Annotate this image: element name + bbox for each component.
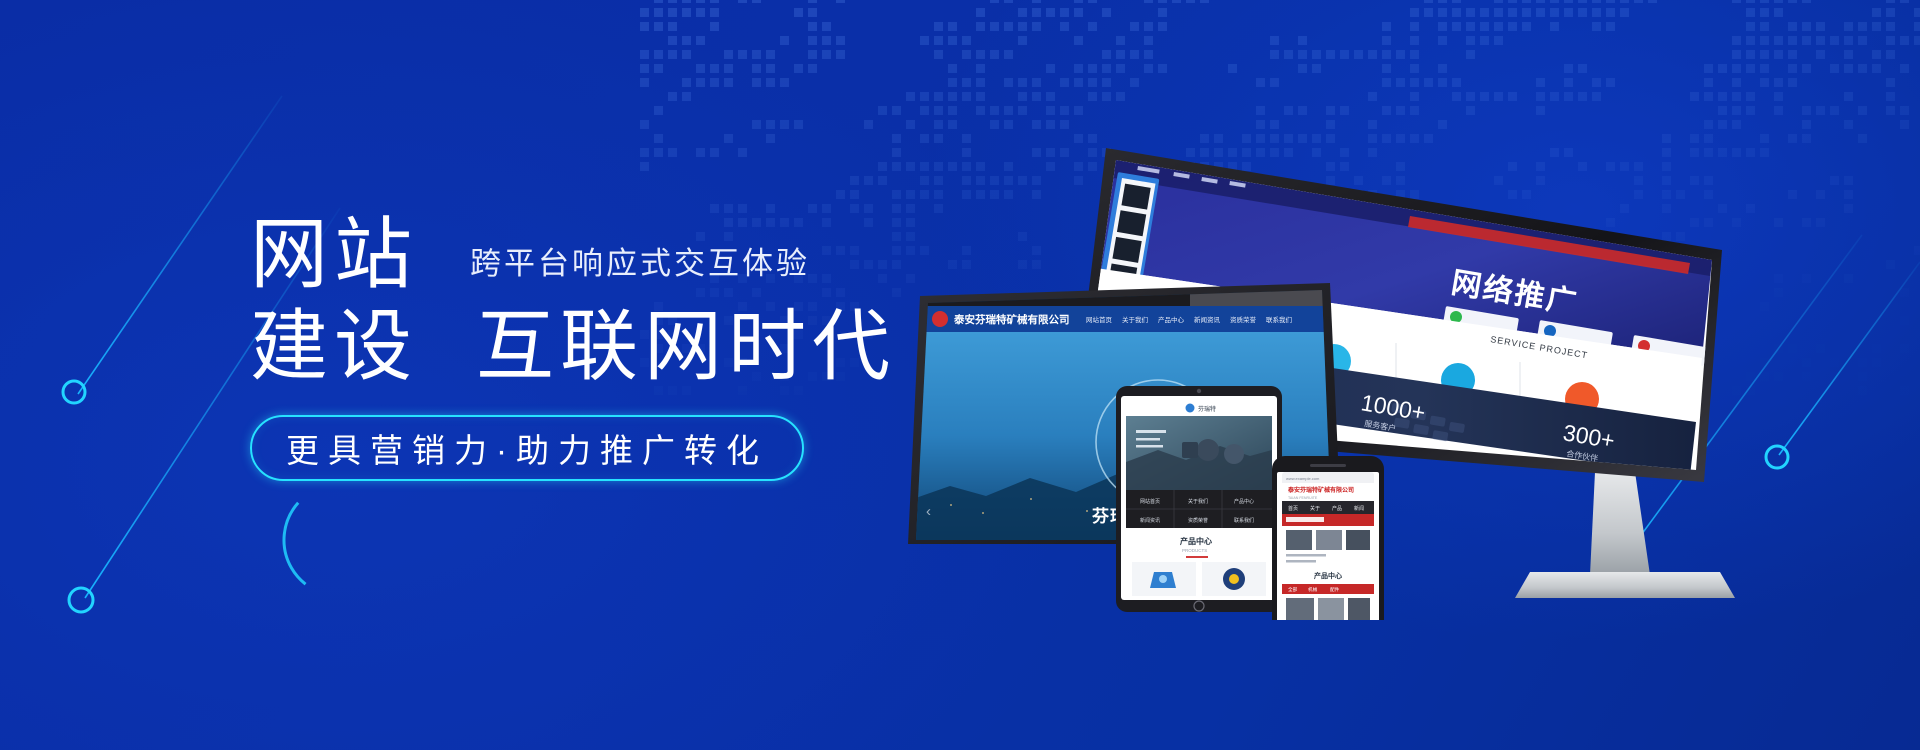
- tagline-wrapper: 更具营销力·助力推广转化: [250, 415, 804, 481]
- svg-text:产品中心: 产品中心: [1234, 498, 1254, 505]
- laptop-prev-arrow: ‹: [926, 503, 931, 520]
- phone-header: 泰安芬瑞特矿械有限公司: [1287, 486, 1354, 494]
- svg-text:TAIAN FENRUITE: TAIAN FENRUITE: [1288, 496, 1318, 500]
- svg-text:机械: 机械: [1308, 586, 1318, 593]
- headline-row-2: 建设 互联网时代: [250, 307, 890, 385]
- phone-section: 产品中心: [1314, 571, 1342, 580]
- hero-banner: 网站 跨平台响应式交互体验 建设 互联网时代 更具营销力·助力推广转化: [0, 0, 1920, 750]
- svg-text:配件: 配件: [1330, 586, 1340, 593]
- svg-text:全部: 全部: [1288, 586, 1298, 593]
- svg-text:新闻资讯: 新闻资讯: [1140, 517, 1160, 524]
- device-phone: www.example.com 泰安芬瑞特矿械有限公司 TAIAN FENRUI…: [1272, 456, 1384, 620]
- svg-text:关于: 关于: [1310, 505, 1320, 512]
- tablet-brand: 芬瑞特: [1198, 405, 1216, 413]
- tagline-pill: 更具营销力·助力推广转化: [250, 415, 804, 481]
- svg-text:资质荣誉: 资质荣誉: [1230, 315, 1257, 324]
- ring-left-upper: [63, 381, 85, 403]
- svg-text:联系我们: 联系我们: [1266, 315, 1292, 324]
- svg-text:网站首页: 网站首页: [1086, 315, 1113, 324]
- tablet-camera-icon: [1197, 389, 1201, 393]
- svg-text:关于我们: 关于我们: [1122, 315, 1148, 324]
- svg-text:新闻: 新闻: [1354, 505, 1364, 512]
- svg-text:产品: 产品: [1332, 505, 1342, 512]
- svg-text:资质荣誉: 资质荣誉: [1188, 517, 1208, 524]
- tablet-product-2: [1223, 568, 1245, 590]
- tablet-section: 产品中心: [1180, 536, 1212, 546]
- laptop-logo-icon: [932, 311, 948, 327]
- tablet-product-1: [1150, 572, 1176, 588]
- headline-primary-line2: 建设: [250, 307, 418, 385]
- phone-url: www.example.com: [1286, 476, 1320, 481]
- svg-text:网站首页: 网站首页: [1140, 498, 1160, 505]
- svg-text:产品中心: 产品中心: [1158, 315, 1185, 324]
- svg-text:新闻资讯: 新闻资讯: [1194, 315, 1221, 324]
- ring-left-lower: [69, 588, 93, 612]
- device-mockup-group: 网络推广: [890, 120, 1920, 620]
- headline-accent: 互联网时代: [476, 307, 896, 385]
- tablet-section-sub: PRODUCTS: [1182, 548, 1207, 553]
- device-tablet: 芬瑞特: [1116, 386, 1282, 612]
- headline-subtitle: 跨平台响应式交互体验: [470, 238, 810, 293]
- headline-primary-line1: 网站: [250, 215, 418, 293]
- headline-block: 网站 跨平台响应式交互体验 建设 互联网时代 更具营销力·助力推广转化: [250, 215, 890, 481]
- ring-large-arc: [264, 464, 417, 617]
- svg-text:联系我们: 联系我们: [1234, 517, 1254, 524]
- headline-row-1: 网站 跨平台响应式交互体验: [250, 215, 890, 293]
- laptop-company: 泰安芬瑞特矿械有限公司: [953, 313, 1070, 326]
- svg-text:首页: 首页: [1288, 505, 1298, 512]
- svg-text:关于我们: 关于我们: [1188, 498, 1208, 505]
